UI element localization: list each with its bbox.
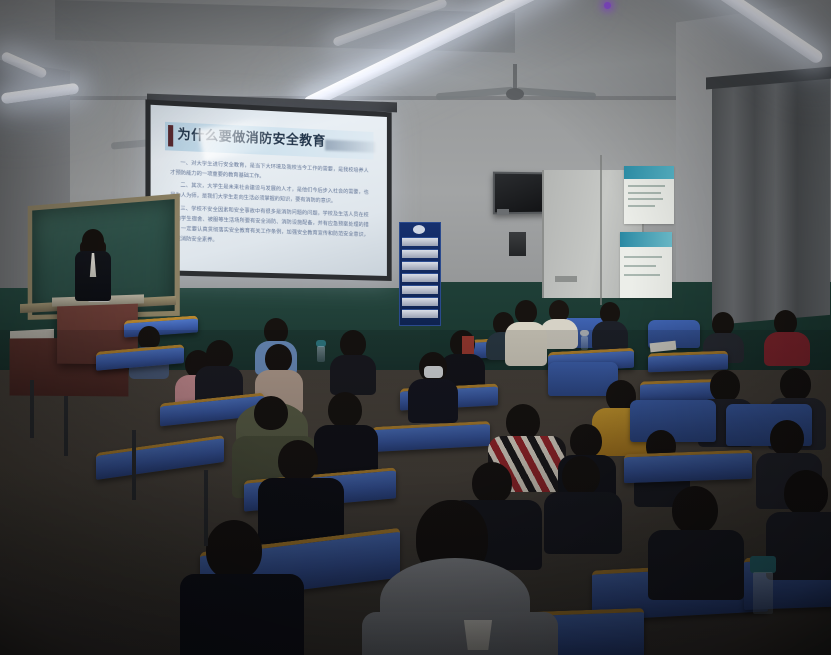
face-mask <box>424 366 443 378</box>
desk <box>648 351 728 373</box>
slide-paragraph: 三、学校不安全因素和安全事故中有很多是消防问题的问题，学校及生活人员在校内的学生… <box>170 204 368 250</box>
seat-leg <box>30 380 34 438</box>
wall-poster-upper <box>624 166 674 224</box>
ceiling-fan-1 <box>440 78 590 112</box>
slide-corner-mark <box>325 139 376 153</box>
projected-slide: 为什么要做消防安全教育 一、对大学生进行安全教育，是当下大环境及我校当今工作的需… <box>151 105 387 276</box>
presenter-hair <box>82 229 104 253</box>
seat-leg <box>132 430 136 500</box>
slide-title-marker-icon <box>168 125 174 147</box>
projection-screen: 为什么要做消防安全教育 一、对大学生进行安全教育，是当下大环境及我校当今工作的需… <box>145 99 391 281</box>
led-indicator-icon <box>604 2 611 9</box>
wall-poster-lower <box>620 232 672 298</box>
window-curtain <box>712 77 830 325</box>
presenter <box>73 232 113 302</box>
desk <box>624 450 752 483</box>
seat-leg <box>204 470 208 546</box>
bottle-cap <box>750 556 776 573</box>
red-book <box>462 336 474 354</box>
bottle-body <box>317 346 325 362</box>
rack-logo-icon <box>413 225 425 234</box>
bottle-body <box>753 572 774 614</box>
classroom-photo: 为什么要做消防安全教育 一、对大学生进行安全教育，是当下大环境及我校当今工作的需… <box>0 0 831 655</box>
notice-rack <box>399 222 441 326</box>
water-bottle-3 <box>580 330 589 350</box>
water-bottle <box>750 556 776 614</box>
water-bottle-2 <box>316 340 326 362</box>
door-sign <box>555 276 577 282</box>
wall-display-bracket <box>497 209 509 215</box>
seat-leg <box>64 396 68 456</box>
slide-body: 一、对大学生进行安全教育，是当下大环境及我校当今工作的需要，是我校培养人才预防能… <box>170 158 368 253</box>
bottle-body <box>581 336 588 350</box>
wall-display <box>493 172 546 215</box>
wall-speaker <box>509 232 526 256</box>
door-frame-line <box>600 155 602 305</box>
